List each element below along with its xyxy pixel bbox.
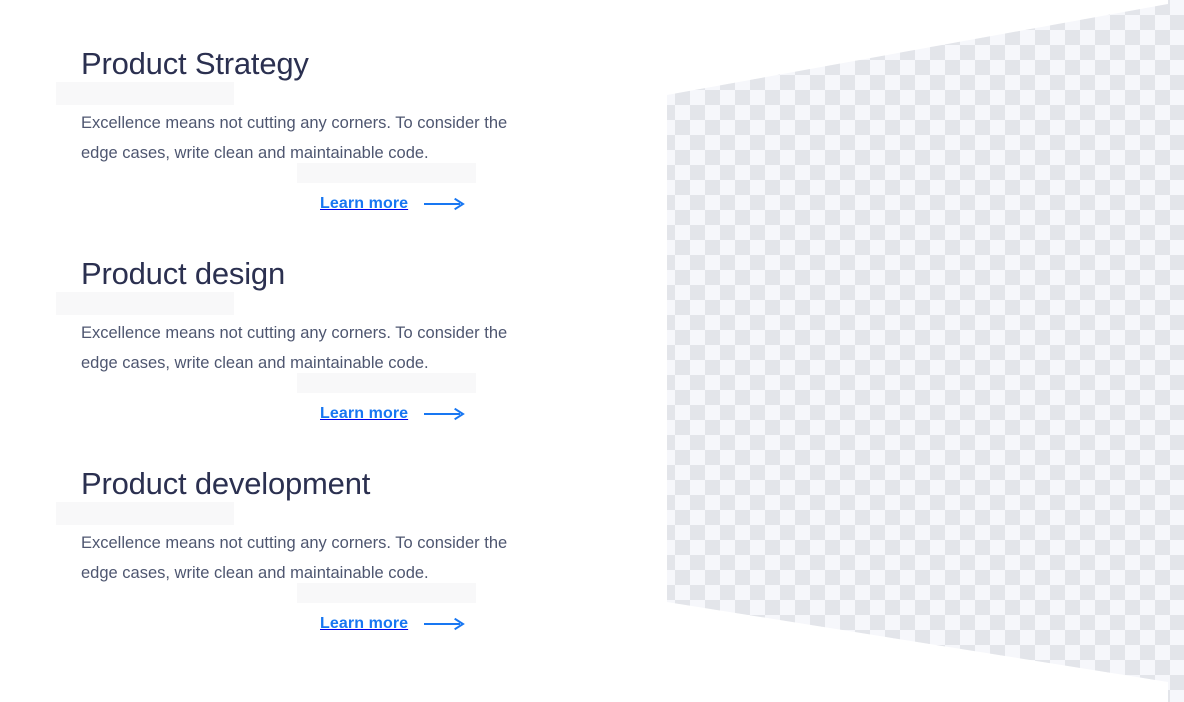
section-heading: Product design [81,254,541,294]
body-placeholder-bar [297,583,476,603]
learn-more-label: Learn more [320,405,408,423]
arrow-right-icon [424,197,465,211]
learn-more-link[interactable]: Learn more [320,405,475,423]
section-heading: Product Strategy [81,44,541,84]
heading-placeholder-bar [56,502,234,525]
section-heading: Product development [81,464,541,504]
learn-more-label: Learn more [320,195,408,213]
body-placeholder-bar [297,373,476,393]
feature-section-product-development: Product development Excellence means not… [81,464,541,588]
heading-placeholder-bar [56,82,234,105]
learn-more-link[interactable]: Learn more [320,615,475,633]
feature-list: Product Strategy Excellence means not cu… [0,0,640,702]
arrow-right-icon [424,407,465,421]
feature-section-product-design: Product design Excellence means not cutt… [81,254,541,378]
page-root: Product Strategy Excellence means not cu… [0,0,1184,702]
feature-section-product-strategy: Product Strategy Excellence means not cu… [81,44,541,168]
learn-more-label: Learn more [320,615,408,633]
heading-placeholder-bar [56,292,234,315]
learn-more-link[interactable]: Learn more [320,195,475,213]
arrow-right-icon [424,617,465,631]
body-placeholder-bar [297,163,476,183]
